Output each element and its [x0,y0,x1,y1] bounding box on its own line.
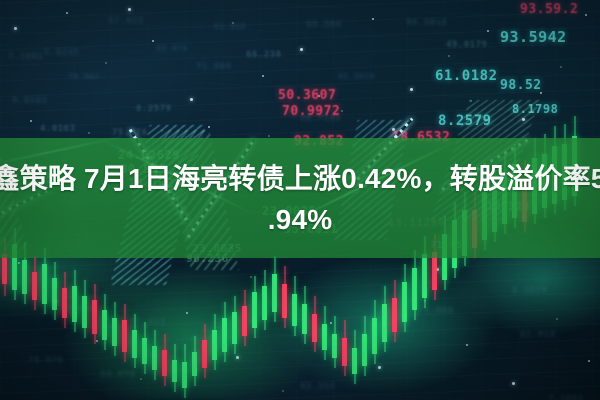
ticker-number: 5.0245 [44,48,80,58]
ticker-number: 57.423 [108,16,144,26]
ticker-number: 66.238 [246,50,282,60]
screenshot-canvas: 7.1861 5.0245 9.0185 4.0163 78.802 57.42… [0,0,600,400]
ticker-number: 8.2579 [136,104,172,114]
ticker-number-bright: 98.52 [500,78,542,93]
ticker-number: 93.594 [306,20,342,30]
ticker-number-alert: 93.59.2 [520,2,578,17]
ticker-number: 78.802 [68,72,100,81]
ticker-number: 49.0179 [446,40,487,50]
ticker-number: 94.5018 [406,18,447,28]
ticker-number: 9.0185 [12,96,48,106]
headline-line-2: .94% [268,199,333,240]
ticker-number-alert: 70.9972 [282,104,340,119]
headline-text-block: 鑫策略 7月1日海亮转债上涨0.42%，转股溢价率5 .94% [0,150,600,250]
ticker-number-bright: 93.5942 [500,28,567,46]
ticker-number: 7.1861 [8,52,44,62]
ticker-number-alert: 50.3607 [278,88,336,103]
ticker-number: 83.876 [156,44,188,53]
ticker-number-bright: 61.0182 [435,68,498,84]
ticker-number: 95.5018 [338,72,375,81]
headline-line-1: 鑫策略 7月1日海亮转债上涨0.42%，转股溢价率5 [0,158,600,199]
ticker-number: 61.018 [214,22,246,31]
ticker-number: 71.604 [196,62,232,72]
